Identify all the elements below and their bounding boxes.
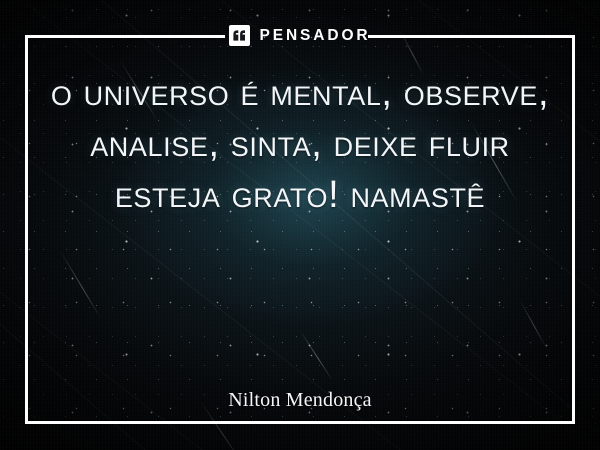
- brand-lockup[interactable]: PENSADOR: [0, 22, 600, 49]
- quote-text: O Universo é mental, observe, analise, s…: [42, 68, 558, 221]
- quote-mark-icon: [229, 25, 250, 46]
- brand-wordmark: PENSADOR: [259, 28, 370, 44]
- quote-author[interactable]: Nilton Mendonça: [0, 388, 600, 412]
- quote-card: PENSADOR O Universo é mental, observe, a…: [0, 0, 600, 450]
